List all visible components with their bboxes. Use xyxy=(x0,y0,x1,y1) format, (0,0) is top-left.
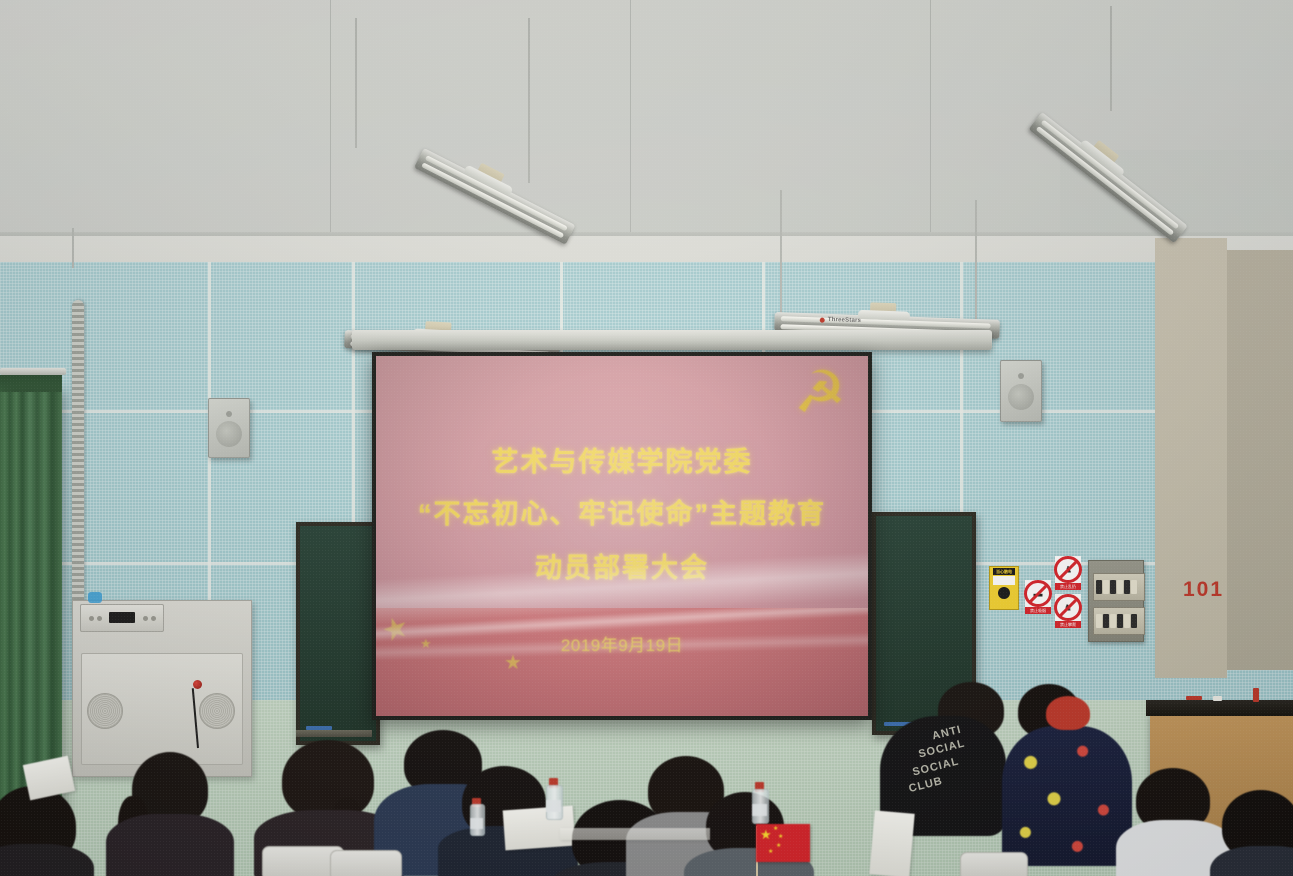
no-climbing-label: 禁止攀爬 xyxy=(1055,621,1081,628)
projection-screen: ☭ 艺术与传媒学院党委 “不忘初心、牢记使命”主题教育 动员部署大会 ★ ★ ★… xyxy=(372,352,872,720)
water-bottle[interactable] xyxy=(546,778,561,820)
audio-amplifier-unit[interactable] xyxy=(80,604,164,632)
chair xyxy=(330,850,402,876)
desk-eraser[interactable] xyxy=(1213,696,1222,701)
wall-column-right xyxy=(1155,238,1227,678)
cpc-hammer-sickle-emblem: ☭ xyxy=(794,364,846,422)
amplifier-display xyxy=(109,612,135,623)
wall-conduit-pipe xyxy=(72,300,84,620)
light-suspension-rod xyxy=(1110,6,1112,111)
yellow-warning-label: 当心触电 xyxy=(989,566,1019,610)
slide-date: 2019年9月19日 xyxy=(376,631,868,656)
classroom-meeting-photo: ThreeStars ☭ 艺术与传媒学院党委 “不忘初心、牢记使命”主题教育 动… xyxy=(0,0,1293,876)
cabinet-speaker-grille xyxy=(87,693,123,729)
slide-title-line-1: 艺术与传媒学院党委 xyxy=(376,440,868,479)
no-littering-label: 禁止乱扔 xyxy=(1055,583,1081,590)
screen-brand-text: ThreeStars xyxy=(828,317,862,324)
light-suspension-rod xyxy=(975,200,977,320)
light-suspension-rod xyxy=(72,228,74,268)
water-bottle[interactable] xyxy=(752,782,767,824)
light-suspension-rod xyxy=(355,18,357,148)
window-curtain xyxy=(0,392,62,822)
room-number-label: 101 xyxy=(1183,578,1224,602)
chalk-tray xyxy=(296,730,372,737)
chinese-flag-graphic: ★ ★ ★ xyxy=(376,608,868,716)
electrical-distribution-panel[interactable] xyxy=(1088,560,1144,642)
chair xyxy=(960,852,1028,876)
projection-screen-housing xyxy=(352,330,992,350)
desk-surface xyxy=(560,828,710,840)
light-suspension-rod xyxy=(528,18,530,183)
small-chinese-flag: ★ ★ ★ ★ ★ xyxy=(756,824,810,862)
lectern-desk-top xyxy=(1146,700,1293,716)
no-smoking-label: 禁止吸烟 xyxy=(1025,607,1051,614)
no-smoking-sign: ▬ 禁止吸烟 xyxy=(1025,580,1051,614)
wall-column-far-right xyxy=(1227,250,1293,670)
light-suspension-rod xyxy=(780,190,782,315)
water-bottle[interactable] xyxy=(470,798,483,836)
wall-speaker-left xyxy=(208,398,250,458)
cabinet-speaker-grille xyxy=(199,693,235,729)
chalk-piece xyxy=(306,726,332,730)
desk-marker[interactable] xyxy=(1253,688,1259,702)
desk-pen[interactable] xyxy=(1186,696,1202,700)
slide-surface: ☭ 艺术与传媒学院党委 “不忘初心、牢记使命”主题教育 动员部署大会 ★ ★ ★… xyxy=(376,356,868,716)
curtain-rail xyxy=(0,368,66,375)
green-blackboard xyxy=(296,522,380,745)
wall-speaker-right xyxy=(1000,360,1042,422)
paper-document xyxy=(869,810,914,876)
gooseneck-microphone[interactable] xyxy=(193,680,202,689)
no-climbing-sign: ♞ 禁止攀爬 xyxy=(1055,594,1081,628)
cabinet-sticker xyxy=(88,592,102,603)
no-littering-sign: ♟ 禁止乱扔 xyxy=(1055,556,1081,590)
warning-header-text: 当心触电 xyxy=(996,569,1012,575)
slide-title-line-2: “不忘初心、牢记使命”主题教育 xyxy=(376,492,868,531)
